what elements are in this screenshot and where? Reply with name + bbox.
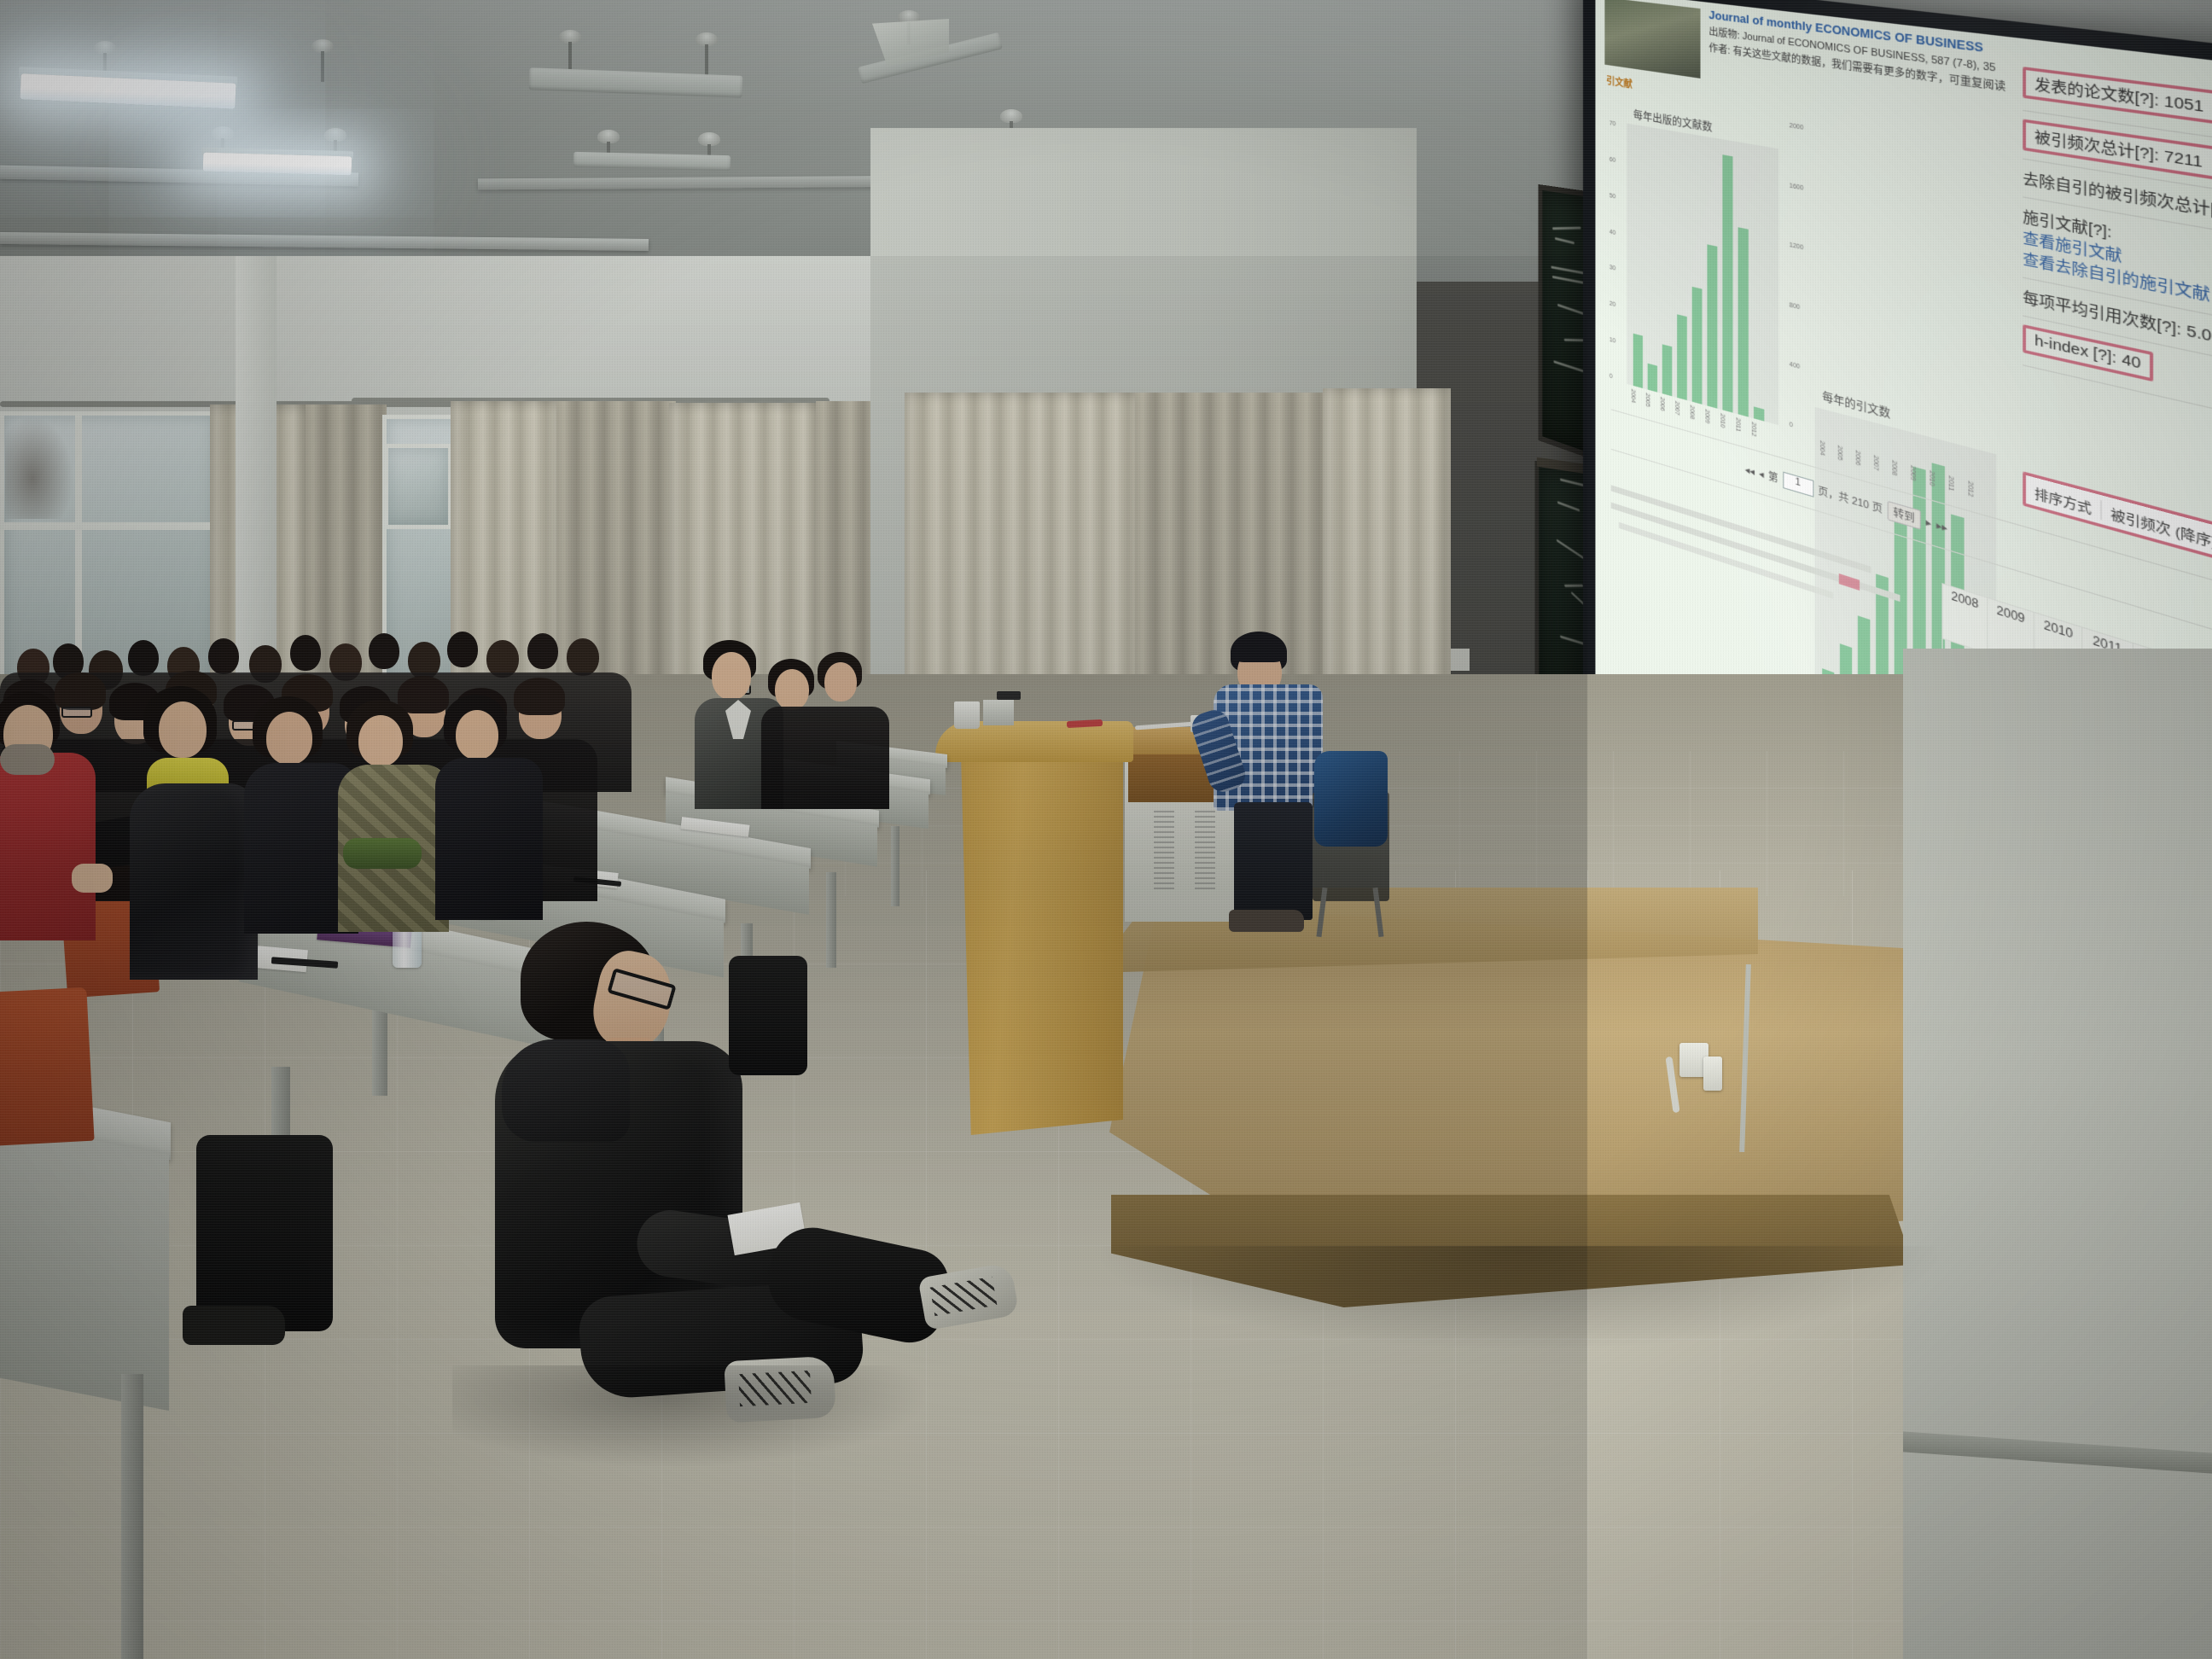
wall-notice-small xyxy=(1451,649,1470,671)
publications-chart-y-axis: 70 60 50 40 30 20 10 0 xyxy=(1610,120,1625,383)
front-person-2-coat xyxy=(130,783,258,980)
h-index-label: h-index [?]: xyxy=(2034,332,2116,367)
cite-xtick-2009: 2009 xyxy=(1909,464,1916,481)
next-page-icon[interactable]: ▸ xyxy=(1926,515,1931,530)
pager-page-input[interactable]: 1 xyxy=(1783,471,1813,497)
lecture-hall-scene: Journal of monthly ECONOMICS OF BUSINESS… xyxy=(0,0,2212,1659)
citation-stats-panel: 发表的论文数[?]: 1051 被引频次总计[?]: 7211 去除自引的被引频… xyxy=(2023,67,2212,445)
slide-footnote-3 xyxy=(1619,522,1833,599)
sort-select[interactable]: 排序方式 被引频次 (降序) ▼ xyxy=(2023,471,2212,586)
blue-backpack-on-chair xyxy=(1314,751,1388,847)
slide-thumbnail-image xyxy=(1604,0,1700,79)
publications-bar-2010 xyxy=(1722,154,1732,412)
cite-xtick-2005: 2005 xyxy=(1836,445,1842,461)
cite-ytick-2: 1200 xyxy=(1790,242,1813,253)
pub-ytick-5: 20 xyxy=(1610,301,1625,311)
publications-chart-title: 每年出版的文献数 xyxy=(1633,107,1713,135)
cite-xtick-2008: 2008 xyxy=(1890,459,1897,476)
publications-bar-2007 xyxy=(1677,314,1687,400)
front-person-4-head xyxy=(358,715,403,766)
cite-xtick-2004: 2004 xyxy=(1819,439,1825,456)
publications-bar-2004 xyxy=(1633,334,1643,388)
pub-ytick-7: 0 xyxy=(1610,373,1625,383)
sort-label: 排序方式 xyxy=(2026,480,2102,520)
foreground-desk-leg xyxy=(121,1374,143,1659)
pub-xtick-2008: 2008 xyxy=(1689,405,1695,420)
teacher-desk-vent-left xyxy=(1154,807,1174,889)
cite-ytick-1: 1600 xyxy=(1790,183,1813,194)
right-wall-lower xyxy=(1903,649,2212,1659)
total-citations-label: 被引频次总计[?]: xyxy=(2034,129,2159,165)
right-cluster-head-1 xyxy=(775,669,809,710)
stats-divider-6 xyxy=(2023,364,2212,433)
publications-bar-2006 xyxy=(1662,344,1673,396)
citations-chart-y-axis: 2000 1600 1200 800 400 0 xyxy=(1790,123,1813,434)
ceiling-rod-6 xyxy=(705,44,708,77)
cite-xtick-2007: 2007 xyxy=(1872,454,1879,471)
first-page-icon[interactable]: ◂◂ xyxy=(1745,463,1755,477)
right-cluster-head-2 xyxy=(824,662,857,701)
front-person-5-head xyxy=(456,710,498,760)
under-desk-legs-2 xyxy=(729,956,807,1075)
floor-student-shoe-left-laces xyxy=(738,1371,812,1406)
desk-box xyxy=(983,700,1014,725)
floor-student-hood xyxy=(502,1039,630,1142)
pub-xtick-2012: 2012 xyxy=(1750,421,1756,437)
cite-ytick-0: 2000 xyxy=(1790,123,1813,133)
front-person-5-coat xyxy=(435,758,543,920)
pub-ytick-4: 30 xyxy=(1610,265,1625,274)
publications-bar-2011 xyxy=(1738,227,1749,416)
cite-xtick-2012: 2012 xyxy=(1966,480,1973,498)
cite-ytick-5: 0 xyxy=(1790,422,1813,434)
window-curtain-9 xyxy=(1323,388,1451,721)
publications-bar-2005 xyxy=(1648,364,1657,393)
published-papers-label: 发表的论文数[?]: xyxy=(2034,76,2159,110)
window-mullion-2 xyxy=(0,522,218,530)
last-page-icon[interactable]: ▸▸ xyxy=(1936,518,1947,534)
front-person-1-coat xyxy=(0,753,96,940)
pub-xtick-2004: 2004 xyxy=(1630,388,1636,404)
right-cluster-body xyxy=(761,707,889,809)
publications-bar-2012 xyxy=(1754,406,1764,421)
presenter-shoe xyxy=(1229,910,1304,932)
publications-bar-2009 xyxy=(1707,244,1717,408)
pub-xtick-2011: 2011 xyxy=(1735,416,1741,432)
prev-page-icon[interactable]: ◂ xyxy=(1759,467,1764,480)
desk-cup xyxy=(954,701,980,729)
pub-ytick-3: 40 xyxy=(1610,229,1625,238)
citations-chart-title: 每年的引文数 xyxy=(1822,388,1890,422)
front-person-4-green-scarf xyxy=(343,838,422,869)
front-person-1-hand xyxy=(72,864,113,893)
suit-man-head xyxy=(712,652,751,700)
foreground-desk-face xyxy=(0,1115,169,1411)
pub-xtick-2006: 2006 xyxy=(1659,396,1665,411)
pub-ytick-1: 60 xyxy=(1610,156,1625,165)
ceiling-rod-2 xyxy=(321,51,324,82)
h-index-stat: h-index [?]: 40 xyxy=(2023,324,2153,381)
total-citations-value: 7211 xyxy=(2164,148,2203,172)
under-desk-shoe-1 xyxy=(183,1306,285,1345)
pub-xtick-2005: 2005 xyxy=(1644,393,1650,408)
desk-remote xyxy=(997,691,1021,700)
sort-value: 被引频次 (降序) xyxy=(2102,500,2212,554)
front-person-2-head xyxy=(159,701,207,758)
front-person-1-scarf xyxy=(0,744,55,775)
publications-bar-2008 xyxy=(1692,287,1703,405)
cite-xtick-2011: 2011 xyxy=(1947,474,1953,492)
pub-xtick-2009: 2009 xyxy=(1703,409,1709,424)
cite-xtick-2010: 2010 xyxy=(1928,469,1935,486)
cite-xtick-2006: 2006 xyxy=(1854,450,1860,466)
cite-ytick-4: 400 xyxy=(1790,362,1813,374)
under-desk-legs-1 xyxy=(196,1135,333,1331)
pub-xtick-2010: 2010 xyxy=(1719,412,1725,428)
audience-right-cluster xyxy=(768,649,956,802)
publications-per-year-chart: 每年出版的文献数 xyxy=(1627,124,1778,426)
pub-ytick-6: 10 xyxy=(1610,337,1625,347)
pub-ytick-0: 70 xyxy=(1610,120,1625,129)
presenter-legs xyxy=(1234,802,1313,920)
cite-ytick-3: 800 xyxy=(1790,302,1813,314)
published-papers-value: 1051 xyxy=(2164,93,2204,116)
h-index-value: 40 xyxy=(2122,351,2140,373)
pub-xtick-2007: 2007 xyxy=(1674,400,1679,416)
window-3 xyxy=(384,444,452,529)
window-tree-view-1 xyxy=(5,416,73,519)
total-citations-stat: 被引频次总计[?]: 7211 xyxy=(2023,119,2212,179)
avg-citations-value: 5.03 xyxy=(2186,322,2212,347)
pub-ytick-2: 50 xyxy=(1610,193,1625,202)
presenter-hair-front xyxy=(1234,640,1284,662)
front-person-3-head xyxy=(266,712,312,765)
wall-outlet-upper-plug[interactable] xyxy=(1703,1057,1722,1091)
pager-prefix: 第 xyxy=(1768,469,1778,486)
slide-record-tag: 引文献 xyxy=(1606,73,1633,91)
